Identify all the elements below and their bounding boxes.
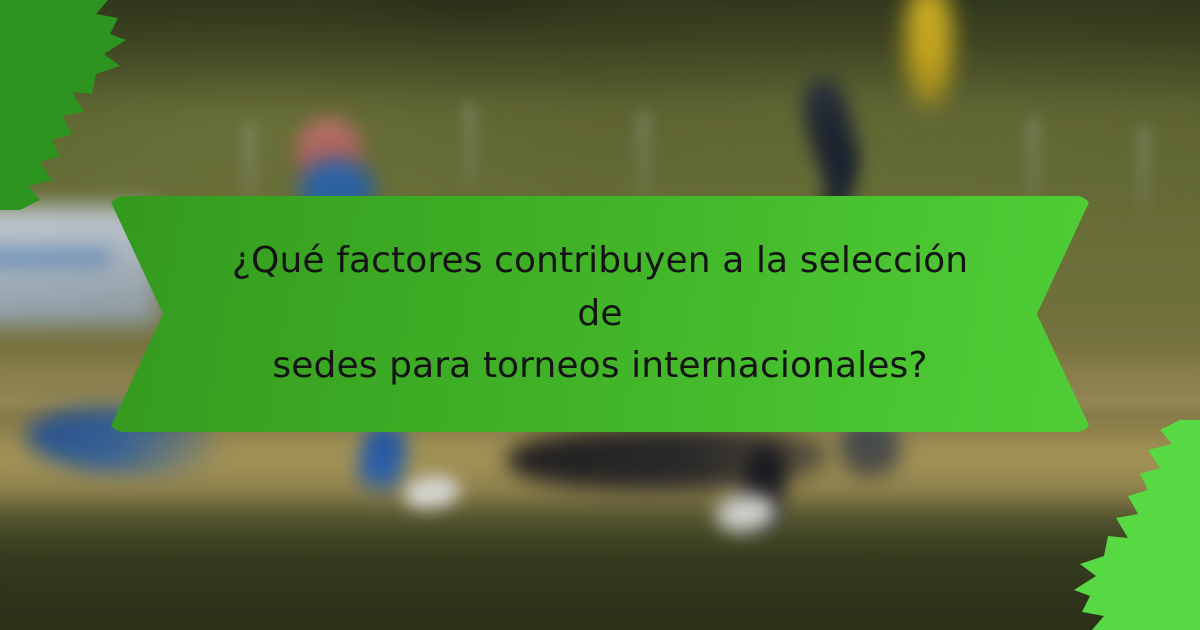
social-card: ¿Qué factores contribuyen a la selección…: [0, 0, 1200, 630]
question-line-2: sedes para torneos internacionales?: [272, 340, 927, 393]
banner-text-block: ¿Qué factores contribuyen a la selección…: [108, 196, 1092, 432]
question-banner: ¿Qué factores contribuyen a la selección…: [108, 196, 1092, 432]
question-line-1: ¿Qué factores contribuyen a la selección…: [228, 235, 972, 340]
